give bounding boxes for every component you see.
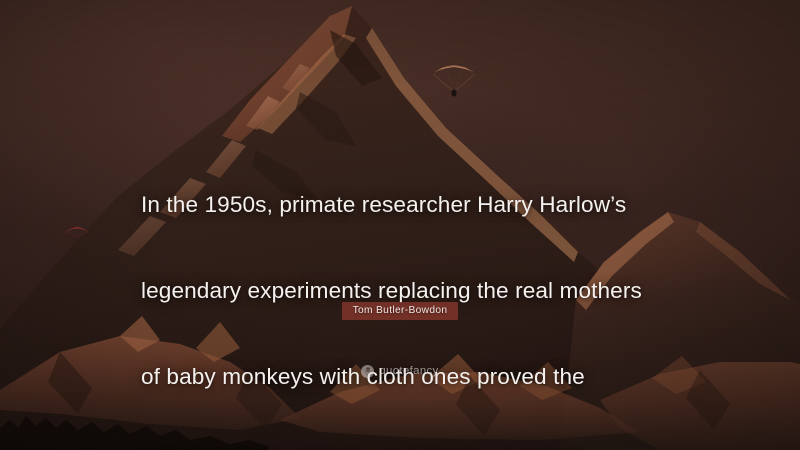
- author-name[interactable]: Tom Butler-Bowdon: [342, 302, 459, 320]
- paraglider-small-icon: [62, 225, 92, 237]
- quote-card: In the 1950s, primate researcher Harry H…: [0, 0, 800, 450]
- quotefancy-logo-icon: ff: [361, 365, 374, 378]
- logo-badge-text: ff: [366, 368, 370, 375]
- quote-text: In the 1950s, primate researcher Harry H…: [141, 133, 681, 450]
- watermark-label: quotefancy: [379, 365, 438, 378]
- author-attribution: Tom Butler-Bowdon: [0, 300, 800, 320]
- paraglider-icon: [427, 59, 481, 107]
- watermark[interactable]: ff quotefancy: [0, 365, 800, 378]
- quote-line: In the 1950s, primate researcher Harry H…: [141, 191, 681, 220]
